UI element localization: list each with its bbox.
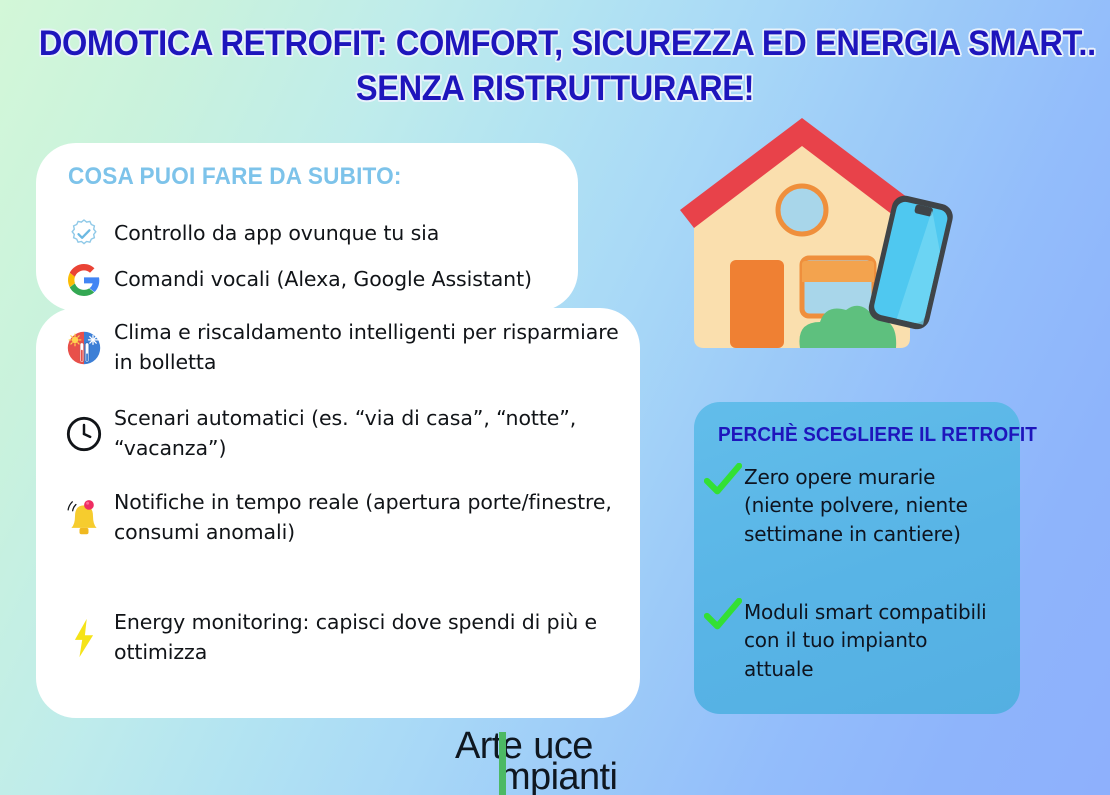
list-item: Energy monitoring: capisci dove spendi d… bbox=[62, 608, 642, 668]
attic-window bbox=[778, 186, 826, 234]
house-svg bbox=[672, 110, 972, 370]
list-item-label: Notifiche in tempo reale (apertura porte… bbox=[114, 488, 642, 548]
list-item-label: Scenari automatici (es. “via di casa”, “… bbox=[114, 404, 642, 464]
logo-line-2: mpianti bbox=[499, 759, 617, 795]
list-item-label: Energy monitoring: capisci dove spendi d… bbox=[114, 608, 642, 668]
logo-green-bar bbox=[499, 732, 506, 795]
blue-panel-heading: PERCHÈ SCEGLIERE IL RETROFIT bbox=[718, 424, 1037, 447]
smart-house-with-phone-illustration bbox=[672, 110, 972, 375]
lightning-bolt-icon bbox=[62, 616, 106, 660]
google-logo-icon bbox=[62, 258, 106, 302]
thermometer-hot-cold-icon bbox=[62, 326, 106, 370]
brand-logo: Arte uce mpianti bbox=[455, 728, 617, 795]
list-item: Moduli smart compatibili con il tuo impi… bbox=[702, 598, 1002, 683]
left-card-heading: COSA PUOI FARE DA SUBITO: bbox=[68, 163, 402, 191]
list-item-label: Moduli smart compatibili con il tuo impi… bbox=[744, 598, 1002, 683]
infographic-poster: DOMOTICA RETROFIT: COMFORT, SICUREZZA ED… bbox=[0, 0, 1110, 795]
list-item: Comandi vocali (Alexa, Google Assistant) bbox=[62, 258, 642, 302]
list-item: Notifiche in tempo reale (apertura porte… bbox=[62, 488, 642, 548]
list-item: Clima e riscaldamento intelligenti per r… bbox=[62, 318, 642, 378]
poster-title: DOMOTICA RETROFIT: COMFORT, SICUREZZA ED… bbox=[0, 22, 1110, 112]
green-check-icon bbox=[702, 463, 744, 497]
list-item-label: Comandi vocali (Alexa, Google Assistant) bbox=[114, 265, 532, 295]
title-line-2: SENZA RISTRUTTURARE! bbox=[39, 67, 1071, 112]
list-item-label: Controllo da app ovunque tu sia bbox=[114, 219, 439, 249]
verified-badge-icon bbox=[62, 212, 106, 256]
green-check-icon bbox=[702, 598, 744, 632]
bell-icon bbox=[62, 496, 106, 540]
logo-word-impianti: mpianti bbox=[499, 759, 617, 795]
list-item: Zero opere murarie (niente polvere, nien… bbox=[702, 463, 1002, 548]
clock-icon bbox=[62, 412, 106, 456]
list-item: Controllo da app ovunque tu sia bbox=[62, 212, 642, 256]
house-door bbox=[730, 260, 784, 348]
window-awning bbox=[802, 261, 874, 282]
list-item-label: Zero opere murarie (niente polvere, nien… bbox=[744, 463, 1002, 548]
title-line-1: DOMOTICA RETROFIT: COMFORT, SICUREZZA ED… bbox=[39, 22, 1071, 67]
list-item: Scenari automatici (es. “via di casa”, “… bbox=[62, 404, 642, 464]
list-item-label: Clima e riscaldamento intelligenti per r… bbox=[114, 318, 642, 378]
